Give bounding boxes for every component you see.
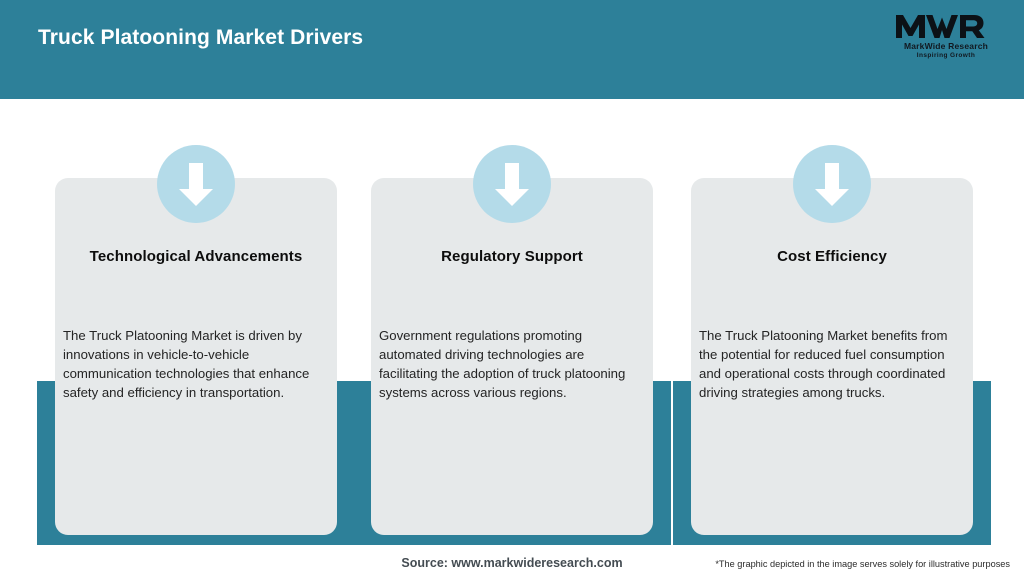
slide-root: Truck Platooning Market Drivers MarkWide… xyxy=(0,0,1024,576)
driver-card: Technological Advancements The Truck Pla… xyxy=(55,145,337,545)
card-body-text: The Truck Platooning Market is driven by… xyxy=(63,326,327,402)
driver-card-group: Technological Advancements The Truck Pla… xyxy=(0,0,1024,576)
driver-card: Cost Efficiency The Truck Platooning Mar… xyxy=(691,145,973,545)
card-title: Regulatory Support xyxy=(381,248,643,265)
card-body-text: Government regulations promoting automat… xyxy=(379,326,643,402)
card-title: Cost Efficiency xyxy=(701,248,963,265)
disclaimer-note: *The graphic depicted in the image serve… xyxy=(715,559,1010,569)
arrow-down-icon xyxy=(157,145,235,223)
card-title: Technological Advancements xyxy=(65,248,327,265)
driver-card: Regulatory Support Government regulation… xyxy=(371,145,653,545)
arrow-down-icon xyxy=(473,145,551,223)
arrow-down-icon xyxy=(793,145,871,223)
card-body-text: The Truck Platooning Market benefits fro… xyxy=(699,326,963,402)
